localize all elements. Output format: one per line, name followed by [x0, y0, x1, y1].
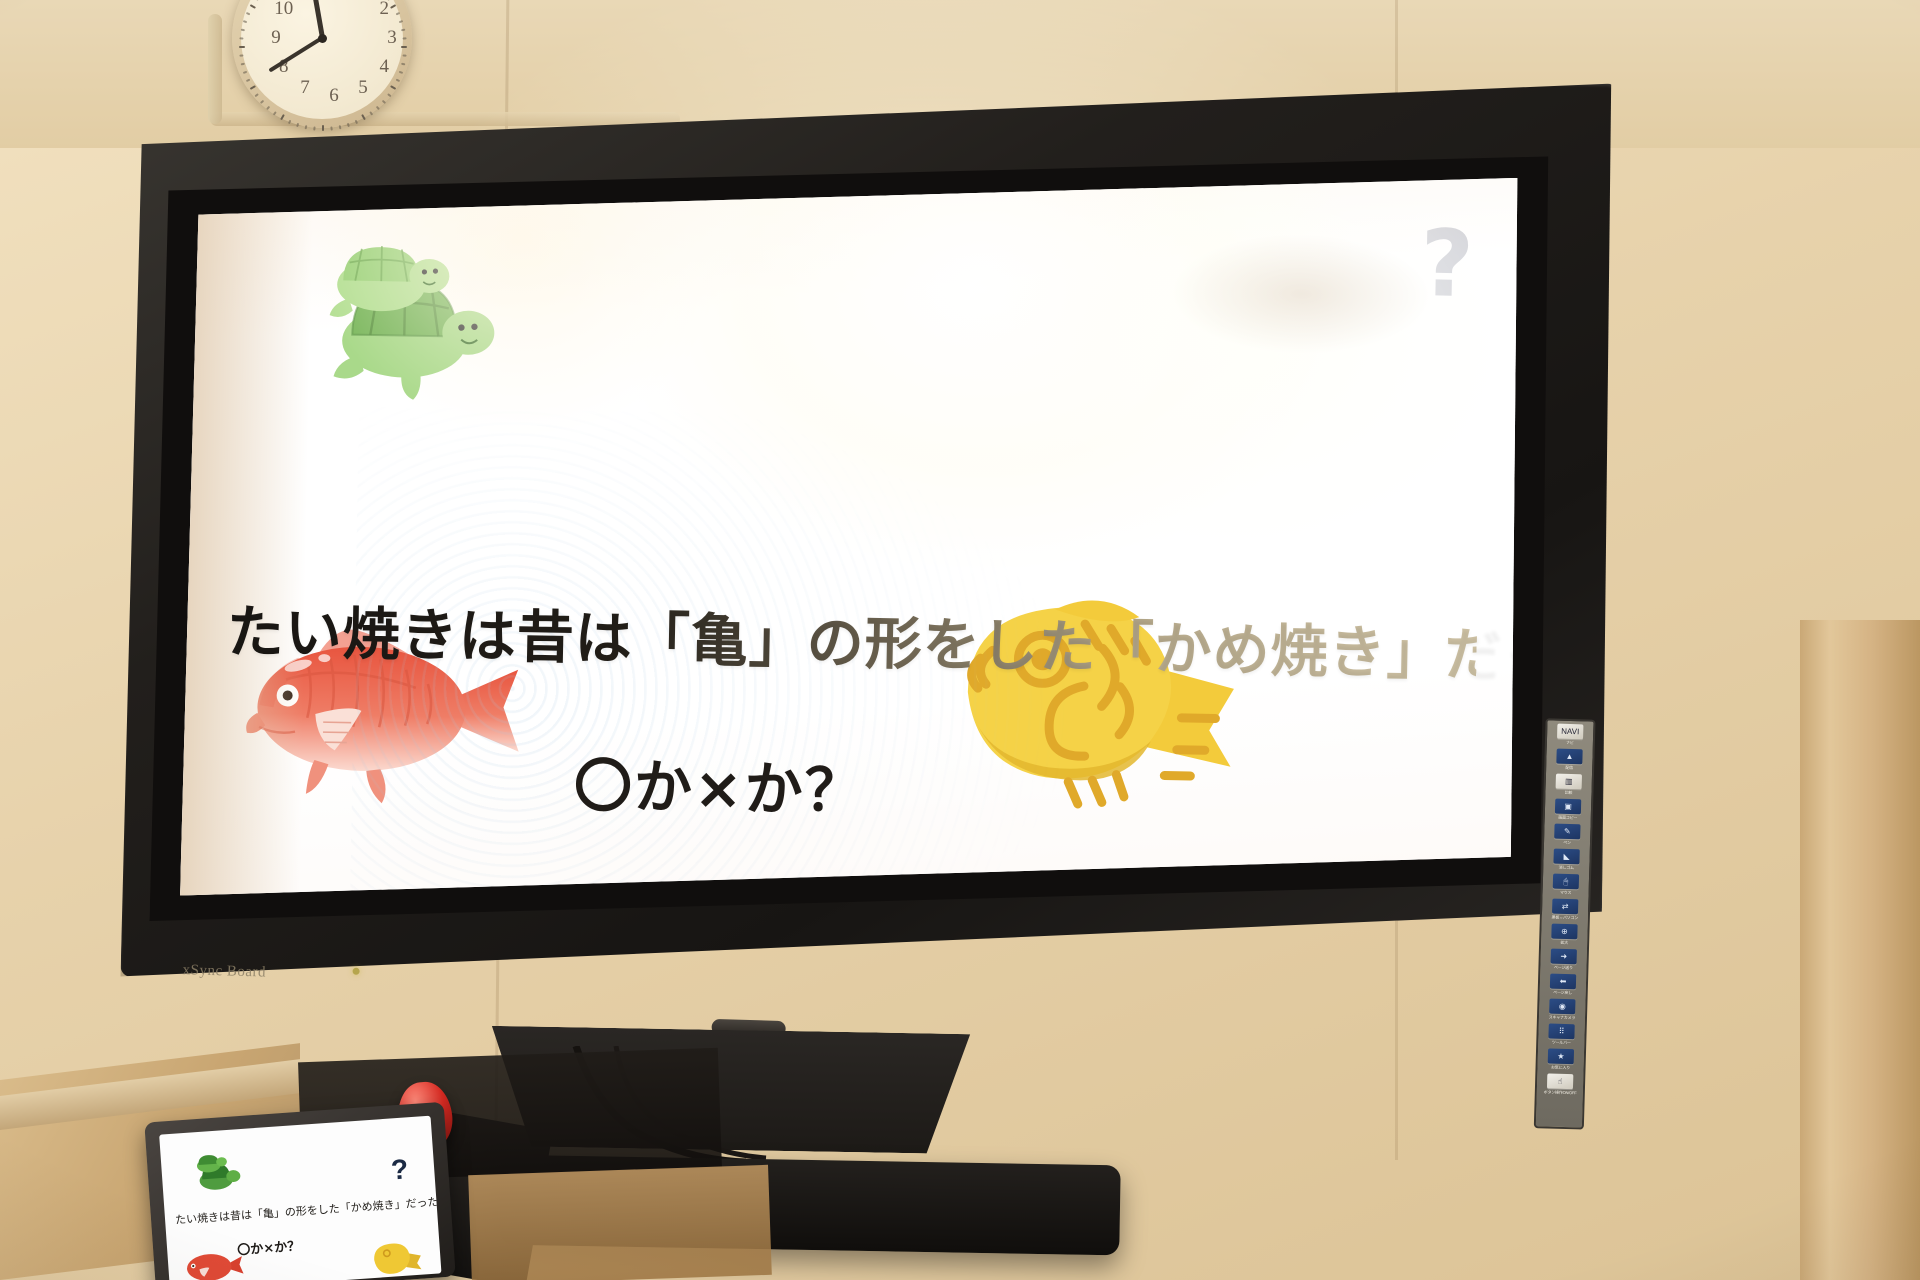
tool-label: 配信 [1565, 765, 1573, 771]
tool-mouse-icon[interactable]: 🖱マウス [1546, 873, 1585, 897]
pen-icon[interactable]: ✎ [1554, 824, 1580, 840]
toolbar-icon[interactable]: ⠿ [1548, 1024, 1574, 1040]
tool-toolbar-icon[interactable]: ⠿ツールバー [1542, 1023, 1581, 1047]
tool-label: 比較 [1565, 790, 1573, 796]
clock-tick [254, 0, 258, 1]
device-brand-label: xSync Board [182, 962, 266, 981]
tool-page-next-icon[interactable]: ➜ページ送り [1544, 948, 1583, 972]
clock-numeral: 3 [379, 27, 405, 49]
tool-button-lock-icon[interactable]: ☝ボタン操作ON/OFF [1541, 1073, 1580, 1097]
tool-label: お気に入り [1551, 1065, 1570, 1071]
tablet-turtles-icon [188, 1144, 254, 1202]
clock-numeral: 9 [263, 27, 289, 49]
tool-label: 黒板⇔パソコン [1552, 915, 1579, 921]
clock-tick [250, 4, 256, 9]
tool-zoom-in-icon[interactable]: ⊕拡大 [1545, 923, 1584, 947]
tool-page-prev-icon[interactable]: ⬅ページ戻し [1544, 973, 1583, 997]
tool-label: ボタン操作ON/OFF [1543, 1090, 1576, 1097]
tool-label: マウス [1560, 890, 1572, 896]
tool-label: ページ送り [1554, 965, 1573, 971]
screen-glare-spot [1170, 232, 1432, 357]
interactive-whiteboard[interactable]: たい焼きは昔は「亀」の形をした「かめ焼き」だった。 〇か×か？ ? NAVIナビ… [99, 44, 1628, 1101]
clock-numeral: 10 [271, 0, 297, 20]
clock-hour-hand [312, 0, 325, 38]
tool-label: 拡大 [1560, 940, 1568, 946]
zoom-in-icon[interactable]: ⊕ [1551, 924, 1577, 940]
screen-left-shading [180, 154, 314, 898]
switch-source-icon[interactable]: ⇄ [1552, 899, 1578, 915]
tool-navi-icon[interactable]: NAVIナビ [1551, 723, 1590, 747]
classroom-scene: 121234567891011 [0, 0, 1920, 1280]
tool-label: 画面コピー [1558, 815, 1577, 821]
scanner-camera-icon[interactable]: ◉ [1549, 999, 1575, 1015]
favorite-star-icon[interactable]: ★ [1548, 1048, 1574, 1064]
tool-label: スキャナカメラ [1549, 1015, 1576, 1021]
clock-tick [239, 37, 243, 39]
tool-label: ページ戻し [1553, 990, 1572, 996]
tool-label: ペン [1563, 840, 1571, 846]
eraser-icon[interactable]: ◣ [1553, 849, 1579, 865]
tool-compare-icon[interactable]: ▥比較 [1549, 773, 1588, 797]
tool-eraser-icon[interactable]: ◣消しゴム [1547, 848, 1586, 872]
tool-pen-icon[interactable]: ✎ペン [1548, 823, 1587, 847]
broadcast-icon[interactable]: ▲ [1556, 749, 1582, 765]
display-screen[interactable]: たい焼きは昔は「亀」の形をした「かめ焼き」だった。 〇か×か？ ? [180, 154, 1523, 920]
screen-copy-icon[interactable]: ▣ [1555, 799, 1581, 815]
clock-center-pin [318, 34, 327, 43]
tablet-taiyaki-icon [363, 1234, 430, 1280]
mouse-icon[interactable]: 🖱 [1553, 874, 1579, 890]
clock-tick [246, 12, 250, 15]
navi-icon[interactable]: NAVI [1557, 724, 1583, 740]
door-frame [1800, 620, 1920, 1280]
page-prev-icon[interactable]: ⬅ [1550, 974, 1576, 990]
tool-broadcast-icon[interactable]: ▲配信 [1550, 748, 1589, 772]
tablet-screen[interactable]: ? たい焼きは昔は「亀」の形をした「かめ焼き」だった。 〇か×か？ [159, 1116, 441, 1280]
clock-numeral: 2 [371, 0, 397, 20]
tablet-bream-icon [169, 1240, 258, 1280]
control-tablet[interactable]: ? たい焼きは昔は「亀」の形をした「かめ焼き」だった。 〇か×か？ [144, 1102, 455, 1280]
tool-label: ツールバー [1552, 1040, 1571, 1046]
compare-icon[interactable]: ▥ [1556, 774, 1582, 790]
tablet-question-mark: ? [390, 1153, 409, 1186]
side-toolbar[interactable]: NAVIナビ▲配信▥比較▣画面コピー✎ペン◣消しゴム🖱マウス⇄黒板⇔パソコン⊕拡… [1534, 718, 1596, 1129]
power-led [353, 968, 360, 975]
slide-canvas: たい焼きは昔は「亀」の形をした「かめ焼き」だった。 〇か×か？ ? [180, 154, 1523, 920]
clock-tick [241, 29, 245, 32]
tool-label: ナビ [1566, 740, 1574, 746]
desk-surface [468, 1165, 772, 1280]
page-next-icon[interactable]: ➜ [1551, 949, 1577, 965]
tool-switch-source-icon[interactable]: ⇄黒板⇔パソコン [1546, 898, 1585, 922]
button-lock-icon[interactable]: ☝ [1547, 1073, 1573, 1089]
tool-label: 消しゴム [1559, 865, 1574, 871]
tool-scanner-camera-icon[interactable]: ◉スキャナカメラ [1543, 998, 1582, 1022]
clock-tick [243, 20, 247, 23]
slide-question: 〇か×か？ [573, 739, 865, 828]
tool-favorite-star-icon[interactable]: ★お気に入り [1541, 1048, 1580, 1072]
tool-screen-copy-icon[interactable]: ▣画面コピー [1549, 798, 1588, 822]
